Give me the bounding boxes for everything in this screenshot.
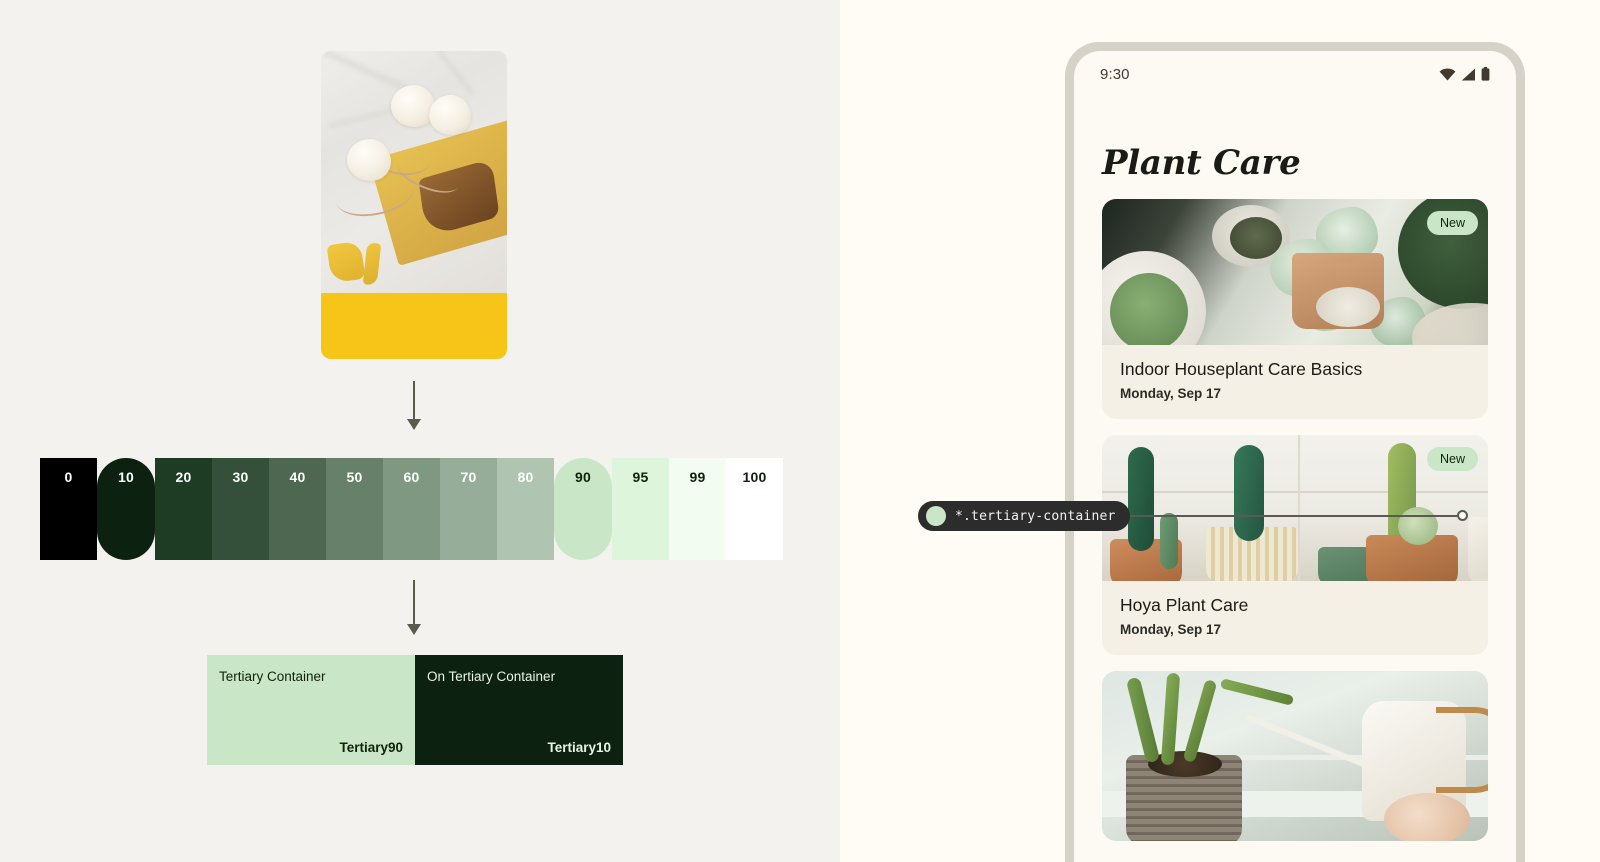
card-image: New: [1102, 199, 1488, 345]
card-date: Monday, Sep 17: [1120, 386, 1470, 401]
palette-swatch-10[interactable]: 10: [97, 458, 155, 560]
status-bar: 9:30: [1074, 51, 1516, 97]
extracted-color-swatch: [321, 293, 507, 359]
color-role-name: Tertiary Container: [219, 669, 403, 685]
card-image: [1102, 671, 1488, 841]
page-title: Plant Care: [1074, 97, 1516, 183]
color-role-name: On Tertiary Container: [427, 669, 611, 685]
wax-peel-shape: [327, 241, 366, 283]
phone-frame: 9:30 Plant Care: [1065, 42, 1525, 862]
arrow-down-icon: [407, 381, 421, 430]
dried-flower-shape: [429, 95, 471, 135]
source-image-card[interactable]: [321, 51, 507, 359]
phone-screen: 9:30 Plant Care: [1074, 51, 1516, 862]
palette-panel: 01020304050607080909599100 Tertiary Cont…: [0, 0, 840, 862]
palette-swatch-70[interactable]: 70: [440, 458, 497, 560]
palette-swatch-0[interactable]: 0: [40, 458, 97, 560]
palette-swatch-tone-label: 80: [518, 470, 534, 560]
palette-swatch-60[interactable]: 60: [383, 458, 440, 560]
palette-swatch-tone-label: 70: [461, 470, 477, 560]
device-preview-panel: 9:30 Plant Care: [840, 0, 1600, 862]
palette-swatch-30[interactable]: 30: [212, 458, 269, 560]
wifi-icon: [1439, 68, 1456, 81]
palette-swatch-90[interactable]: 90: [554, 458, 612, 560]
color-role-tone-label: Tertiary10: [427, 740, 611, 755]
status-time: 9:30: [1100, 66, 1130, 83]
card-body: Hoya Plant Care Monday, Sep 17: [1102, 581, 1488, 655]
palette-swatch-95[interactable]: 95: [612, 458, 669, 560]
token-name: *.tertiary-container: [955, 509, 1116, 524]
palette-swatch-99[interactable]: 99: [669, 458, 726, 560]
palette-swatch-tone-label: 100: [743, 470, 767, 560]
palette-swatch-tone-label: 10: [118, 470, 134, 560]
palette-swatch-tone-label: 99: [690, 470, 706, 560]
palette-swatch-tone-label: 90: [575, 470, 591, 560]
list-item[interactable]: New Hoya Plant Care Monday, Sep 17: [1102, 435, 1488, 655]
color-role-tone-label: Tertiary90: [219, 740, 403, 755]
status-badge: New: [1427, 211, 1478, 235]
palette-swatch-80[interactable]: 80: [497, 458, 554, 560]
token-callout[interactable]: *.tertiary-container: [918, 501, 1130, 531]
card-body: Indoor Houseplant Care Basics Monday, Se…: [1102, 345, 1488, 419]
card-title: Indoor Houseplant Care Basics: [1120, 359, 1470, 381]
palette-swatch-tone-label: 20: [176, 470, 192, 560]
dried-flower-shape: [347, 139, 391, 181]
card-date: Monday, Sep 17: [1120, 622, 1470, 637]
tonal-palette: 01020304050607080909599100: [40, 458, 783, 560]
palette-swatch-40[interactable]: 40: [269, 458, 326, 560]
article-card-list: New Indoor Houseplant Care Basics Monday…: [1074, 183, 1516, 841]
source-photo: [321, 51, 507, 293]
palette-swatch-tone-label: 50: [347, 470, 363, 560]
battery-icon: [1481, 67, 1490, 81]
status-icons: [1439, 67, 1490, 81]
dried-flower-shape: [391, 85, 435, 127]
cellular-signal-icon: [1461, 68, 1476, 81]
card-title: Hoya Plant Care: [1120, 595, 1470, 617]
card-image: New: [1102, 435, 1488, 581]
color-role-card[interactable]: On Tertiary ContainerTertiary10: [415, 655, 623, 765]
list-item[interactable]: New Indoor Houseplant Care Basics Monday…: [1102, 199, 1488, 419]
palette-swatch-100[interactable]: 100: [726, 458, 783, 560]
list-item[interactable]: [1102, 671, 1488, 841]
color-role-card[interactable]: Tertiary ContainerTertiary90: [207, 655, 415, 765]
callout-endpoint-handle[interactable]: [1457, 510, 1468, 521]
design-tokens-canvas: 01020304050607080909599100 Tertiary Cont…: [0, 0, 1600, 862]
token-color-swatch-icon: [926, 506, 946, 526]
status-badge: New: [1427, 447, 1478, 471]
palette-swatch-50[interactable]: 50: [326, 458, 383, 560]
palette-swatch-tone-label: 40: [290, 470, 306, 560]
palette-swatch-tone-label: 95: [633, 470, 649, 560]
palette-swatch-tone-label: 60: [404, 470, 420, 560]
arrow-down-icon: [407, 580, 421, 635]
palette-swatch-tone-label: 30: [233, 470, 249, 560]
wax-peel-shape: [363, 242, 381, 285]
marble-vein-icon: [428, 51, 475, 97]
palette-swatch-tone-label: 0: [65, 470, 73, 560]
color-role-cards: Tertiary ContainerTertiary90On Tertiary …: [207, 655, 623, 765]
palette-swatch-20[interactable]: 20: [155, 458, 212, 560]
